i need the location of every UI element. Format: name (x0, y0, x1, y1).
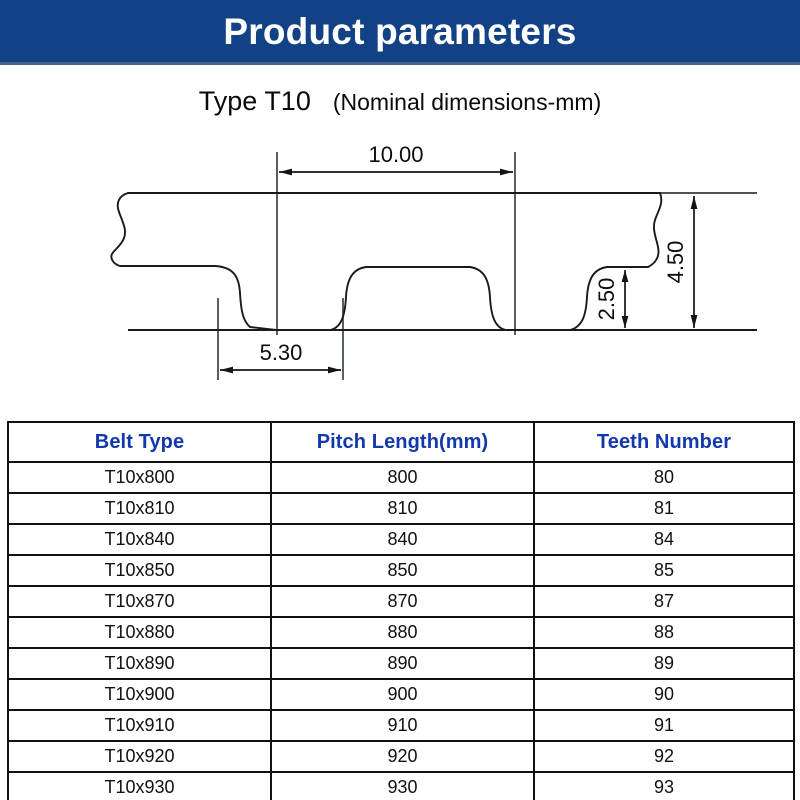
cell-pitch-length: 920 (271, 741, 534, 772)
cell-pitch-length: 850 (271, 555, 534, 586)
cell-teeth-number: 84 (534, 524, 794, 555)
cell-belt-type: T10x810 (8, 493, 271, 524)
dimension-pitch: 10.00 (279, 142, 513, 175)
cell-pitch-length: 800 (271, 462, 534, 493)
column-header-belt-type: Belt Type (8, 422, 271, 462)
cell-pitch-length: 900 (271, 679, 534, 710)
banner-underline (0, 62, 800, 65)
belt-type-label: Type T10 (199, 86, 311, 116)
cell-teeth-number: 93 (534, 772, 794, 800)
dimension-tooth-width-label: 5.30 (260, 340, 303, 365)
table-row: T10x920 920 92 (8, 741, 794, 772)
cell-teeth-number: 85 (534, 555, 794, 586)
product-parameters-page: Product parameters Type T10(Nominal dime… (0, 0, 800, 800)
table-row: T10x870 870 87 (8, 586, 794, 617)
table-row: T10x800 800 80 (8, 462, 794, 493)
cell-belt-type: T10x900 (8, 679, 271, 710)
subtitle-row: Type T10(Nominal dimensions-mm) (0, 86, 800, 117)
column-header-pitch-length: Pitch Length(mm) (271, 422, 534, 462)
cell-teeth-number: 81 (534, 493, 794, 524)
cell-pitch-length: 810 (271, 493, 534, 524)
cell-belt-type: T10x840 (8, 524, 271, 555)
page-title: Product parameters (223, 13, 576, 50)
dimension-tooth-width: 5.30 (220, 340, 341, 373)
table-row: T10x910 910 91 (8, 710, 794, 741)
dimension-belt-thickness: 4.50 (663, 196, 697, 328)
belt-specification-table: Belt Type Pitch Length(mm) Teeth Number … (7, 421, 795, 800)
belt-profile-outline (111, 193, 661, 330)
dimension-tooth-height: 2.50 (594, 270, 628, 328)
column-header-teeth-number: Teeth Number (534, 422, 794, 462)
table-row: T10x890 890 89 (8, 648, 794, 679)
dimension-tooth-height-label: 2.50 (594, 278, 619, 321)
table-row: T10x900 900 90 (8, 679, 794, 710)
table-row: T10x810 810 81 (8, 493, 794, 524)
table-body: T10x800 800 80 T10x810 810 81 T10x840 84… (8, 462, 794, 800)
page-banner: Product parameters (0, 0, 800, 62)
cell-teeth-number: 89 (534, 648, 794, 679)
cell-pitch-length: 840 (271, 524, 534, 555)
cell-belt-type: T10x930 (8, 772, 271, 800)
dimension-belt-thickness-label: 4.50 (663, 241, 688, 284)
cell-belt-type: T10x870 (8, 586, 271, 617)
cell-pitch-length: 880 (271, 617, 534, 648)
cell-pitch-length: 910 (271, 710, 534, 741)
table-header-row: Belt Type Pitch Length(mm) Teeth Number (8, 422, 794, 462)
cell-belt-type: T10x910 (8, 710, 271, 741)
cell-belt-type: T10x880 (8, 617, 271, 648)
cell-teeth-number: 80 (534, 462, 794, 493)
cell-belt-type: T10x920 (8, 741, 271, 772)
cell-belt-type: T10x850 (8, 555, 271, 586)
cell-teeth-number: 91 (534, 710, 794, 741)
cell-pitch-length: 930 (271, 772, 534, 800)
nominal-dimensions-note: (Nominal dimensions-mm) (333, 89, 601, 115)
cell-teeth-number: 92 (534, 741, 794, 772)
cell-belt-type: T10x890 (8, 648, 271, 679)
cell-teeth-number: 90 (534, 679, 794, 710)
table-row: T10x850 850 85 (8, 555, 794, 586)
dimension-pitch-label: 10.00 (368, 142, 423, 167)
cell-pitch-length: 890 (271, 648, 534, 679)
cell-teeth-number: 87 (534, 586, 794, 617)
cell-teeth-number: 88 (534, 617, 794, 648)
table-row: T10x880 880 88 (8, 617, 794, 648)
cell-pitch-length: 870 (271, 586, 534, 617)
table-row: T10x840 840 84 (8, 524, 794, 555)
cell-belt-type: T10x800 (8, 462, 271, 493)
table-row: T10x930 930 93 (8, 772, 794, 800)
tooth-profile-drawing: 10.00 (0, 130, 800, 410)
